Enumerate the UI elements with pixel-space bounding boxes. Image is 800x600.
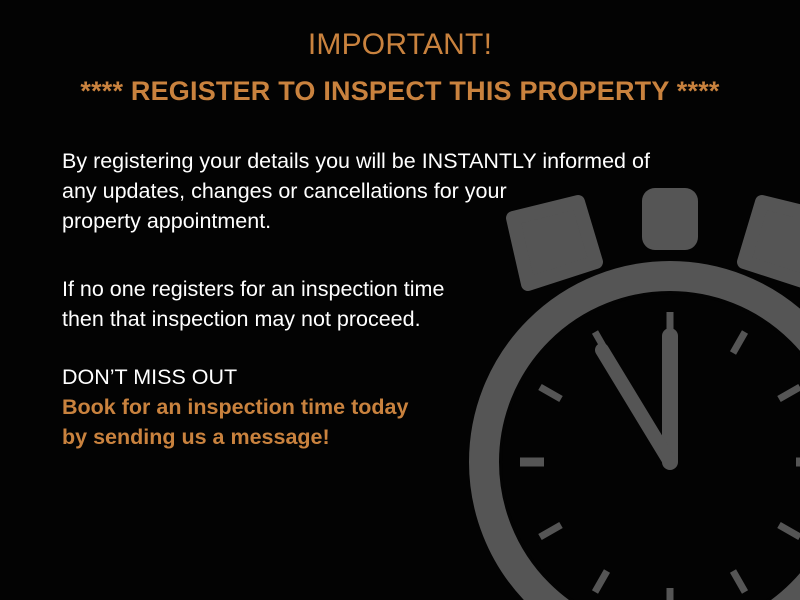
cta-line-book-inspection: Book for an inspection time today <box>62 392 408 422</box>
paragraph-no-registrations: If no one registers for an inspection ti… <box>62 274 444 334</box>
promotional-slide: IMPORTANT! **** REGISTER TO INSPECT THIS… <box>0 0 800 600</box>
page-subtitle: **** REGISTER TO INSPECT THIS PROPERTY *… <box>0 76 800 107</box>
paragraph-registering-details: By registering your details you will be … <box>62 146 650 236</box>
page-title: IMPORTANT! <box>0 28 800 62</box>
cta-line-dont-miss-out: DON’T MISS OUT <box>62 362 408 392</box>
call-to-action-block: DON’T MISS OUT Book for an inspection ti… <box>62 362 408 452</box>
cta-line-send-message: by sending us a message! <box>62 422 408 452</box>
text-layer: IMPORTANT! **** REGISTER TO INSPECT THIS… <box>0 0 800 600</box>
